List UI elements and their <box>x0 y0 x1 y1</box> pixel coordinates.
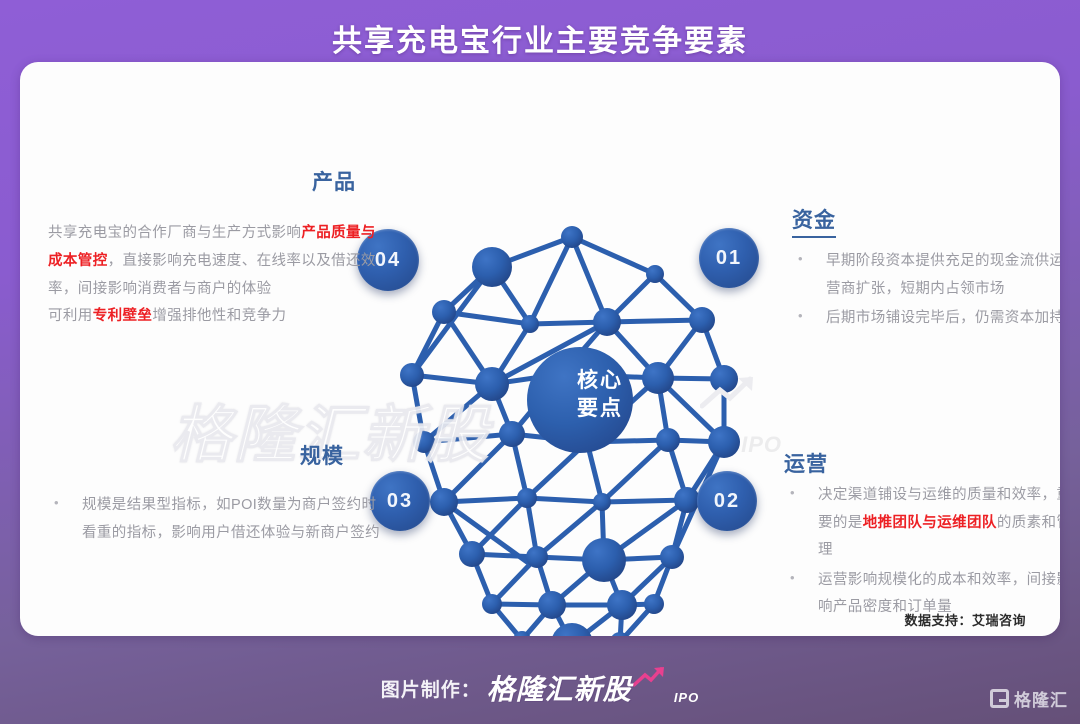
bullet-item: 规模是结果型指标，如POI数量为商户签约时看重的指标，影响用户借还体验与新商户签… <box>48 492 388 547</box>
quadrant-operation: 运营 决定渠道铺设与运维的质量和效率，重要的是地推团队与运维团队的质素和管理运营… <box>784 448 1060 624</box>
credit-label: 图片制作： <box>381 675 481 702</box>
quadrant-capital-heading: 资金 <box>792 204 836 238</box>
gelonghui-mark-icon <box>990 689 1009 708</box>
bullet-item: 决定渠道铺设与运维的质量和效率，重要的是地推团队与运维团队的质素和管理 <box>784 482 1060 565</box>
quadrant-product: 产品 共享充电宝的合作厂商与生产方式影响产品质量与成本管控，直接影响充电速度、在… <box>48 166 378 331</box>
bullet-item: 早期阶段资本提供充足的现金流供运营商扩张，短期内占领市场 <box>792 248 1060 303</box>
core-label-line2: 要点 <box>550 395 650 423</box>
core-label: 核心 要点 <box>550 367 650 422</box>
page-title: 共享充电宝行业主要竞争要素 <box>0 16 1080 60</box>
badge-number-01[interactable]: 01 <box>699 228 759 288</box>
data-source-note: 数据支持：艾瑞咨询 <box>904 610 1026 629</box>
core-label-line1: 核心 <box>550 367 650 395</box>
credit-ipo: IPO <box>674 690 699 705</box>
quadrant-scale-bullets: 规模是结果型指标，如POI数量为商户签约时看重的指标，影响用户借还体验与新商户签… <box>48 492 388 547</box>
credit-brand: 格隆汇新股 <box>487 668 632 708</box>
image-credit: 图片制作： 格隆汇新股 IPO <box>0 668 1080 708</box>
quadrant-scale: 规模 规模是结果型指标，如POI数量为商户签约时看重的指标，影响用户借还体验与新… <box>48 440 388 549</box>
quadrant-scale-heading: 规模 <box>48 440 344 470</box>
credit-arrow-icon <box>632 666 666 688</box>
content-card: 核心 要点 格隆汇新股 IPO 04 01 03 02 产品 共享充电宝的合作厂… <box>20 62 1060 636</box>
badge-number-02[interactable]: 02 <box>697 471 757 531</box>
quadrant-operation-bullets: 决定渠道铺设与运维的质量和效率，重要的是地推团队与运维团队的质素和管理运营影响规… <box>784 482 1060 622</box>
logo-text: 格隆汇 <box>1014 686 1068 711</box>
bullet-item: 后期市场铺设完毕后，仍需资本加持 <box>792 305 1060 333</box>
highlighted-text: 专利壁垒 <box>93 308 153 324</box>
quadrant-operation-heading: 运营 <box>784 453 828 476</box>
quadrant-product-heading: 产品 <box>48 166 356 196</box>
highlighted-text: 地推团队与运维团队 <box>863 515 997 531</box>
site-logo[interactable]: 格隆汇 <box>990 686 1068 711</box>
quadrant-capital: 资金 早期阶段资本提供充足的现金流供运营商扩张，短期内占领市场后期市场铺设完毕后… <box>792 204 1060 335</box>
quadrant-capital-bullets: 早期阶段资本提供充足的现金流供运营商扩张，短期内占领市场后期市场铺设完毕后，仍需… <box>792 248 1060 333</box>
quadrant-product-paragraph: 共享充电宝的合作厂商与生产方式影响产品质量与成本管控，直接影响充电速度、在线率以… <box>48 220 378 303</box>
quadrant-product-paragraph-2: 可利用专利壁垒增强排他性和竞争力 <box>48 303 378 331</box>
